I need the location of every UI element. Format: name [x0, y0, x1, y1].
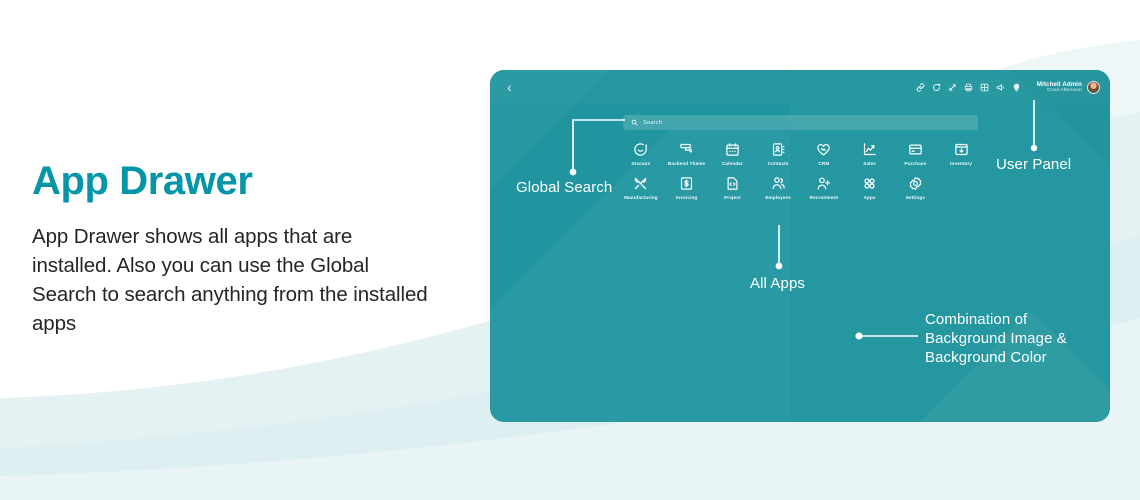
link-icon[interactable]: [916, 83, 925, 92]
bug-icon[interactable]: [948, 83, 957, 92]
page-title: App Drawer: [32, 160, 432, 202]
app-label: Inventory: [950, 161, 972, 166]
tools-icon: [633, 176, 648, 191]
app-label: Project: [724, 195, 741, 200]
people-icon: [771, 176, 786, 191]
system-icon-row: Mitchell Admin Good Afternoon: [916, 81, 1100, 94]
activity-bubble-icon[interactable]: [932, 83, 941, 92]
search-placeholder: Search: [643, 120, 662, 126]
dollar-document-icon: [679, 176, 694, 191]
print-icon[interactable]: [964, 83, 973, 92]
gear-icon: [908, 176, 923, 191]
annotation-combination-line-1: Combination of: [925, 310, 1105, 329]
app-label: Discuss: [632, 161, 651, 166]
calendar-icon: [725, 142, 740, 157]
box-download-icon: [954, 142, 969, 157]
annotation-combination: Combination of Background Image & Backgr…: [925, 310, 1105, 368]
app-grid: Discuss Backend Theme Calendar Contacts …: [618, 142, 984, 200]
app-label: Calendar: [722, 161, 743, 166]
chevron-left-icon[interactable]: ‹: [504, 78, 515, 96]
four-dots-icon: [862, 176, 877, 191]
screenshot-root: App Drawer App Drawer shows all apps tha…: [0, 0, 1140, 500]
user-greeting: Good Afternoon: [1037, 88, 1082, 94]
app-label: Apps: [864, 195, 876, 200]
app-item-calendar[interactable]: Calendar: [710, 142, 756, 166]
app-item-discuss[interactable]: Discuss: [618, 142, 664, 166]
annotation-global-search: Global Search: [516, 178, 612, 197]
megaphone-icon[interactable]: [996, 83, 1005, 92]
app-label: Manufacturing: [624, 195, 658, 200]
heart-handshake-icon: [816, 142, 831, 157]
page-description: App Drawer shows all apps that are insta…: [32, 222, 432, 338]
app-item-backend-theme[interactable]: Backend Theme: [664, 142, 710, 166]
app-item-contacts[interactable]: Contacts: [755, 142, 801, 166]
annotation-combination-line-3: Background Color: [925, 348, 1105, 367]
app-drawer-panel: ‹ Mitchell Admin Good Afternoon: [490, 70, 1110, 422]
app-item-crm[interactable]: CRM: [801, 142, 847, 166]
user-name: Mitchell Admin: [1037, 81, 1082, 88]
user-panel[interactable]: Mitchell Admin Good Afternoon: [1037, 81, 1100, 94]
paint-roller-icon: [679, 142, 694, 157]
annotation-all-apps: All Apps: [750, 274, 805, 293]
app-item-recruitment[interactable]: Recruitment: [801, 176, 847, 200]
app-item-project[interactable]: Project: [710, 176, 756, 200]
app-label: Backend Theme: [668, 161, 705, 166]
app-label: Recruitment: [810, 195, 838, 200]
app-item-purchase[interactable]: Purchase: [893, 142, 939, 166]
card-icon: [908, 142, 923, 157]
grid-icon[interactable]: [980, 83, 989, 92]
search-input[interactable]: Search: [623, 115, 978, 130]
search-icon: [631, 119, 638, 126]
bulb-icon[interactable]: [1012, 83, 1021, 92]
app-label: Settings: [906, 195, 925, 200]
annotation-user-panel: User Panel: [996, 155, 1071, 174]
app-item-employees[interactable]: Employees: [755, 176, 801, 200]
person-add-icon: [816, 176, 831, 191]
panel-top-bar: ‹ Mitchell Admin Good Afternoon: [490, 70, 1110, 104]
address-book-icon: [771, 142, 786, 157]
app-item-sales[interactable]: Sales: [847, 142, 893, 166]
app-label: CRM: [818, 161, 829, 166]
app-label: Contacts: [768, 161, 789, 166]
chat-bubble-icon: [633, 142, 648, 157]
app-item-apps[interactable]: Apps: [847, 176, 893, 200]
app-item-inventory[interactable]: Inventory: [938, 142, 984, 166]
code-file-icon: [725, 176, 740, 191]
app-label: Sales: [863, 161, 876, 166]
app-item-manufacturing[interactable]: Manufacturing: [618, 176, 664, 200]
app-label: Purchase: [904, 161, 926, 166]
app-item-invoicing[interactable]: Invoicing: [664, 176, 710, 200]
user-text: Mitchell Admin Good Afternoon: [1037, 81, 1082, 94]
app-label: Invoicing: [676, 195, 698, 200]
app-item-settings[interactable]: Settings: [893, 176, 939, 200]
avatar[interactable]: [1087, 81, 1100, 94]
line-chart-icon: [862, 142, 877, 157]
annotation-combination-line-2: Background Image &: [925, 329, 1105, 348]
app-label: Employees: [765, 195, 791, 200]
left-copy-block: App Drawer App Drawer shows all apps tha…: [32, 160, 432, 338]
